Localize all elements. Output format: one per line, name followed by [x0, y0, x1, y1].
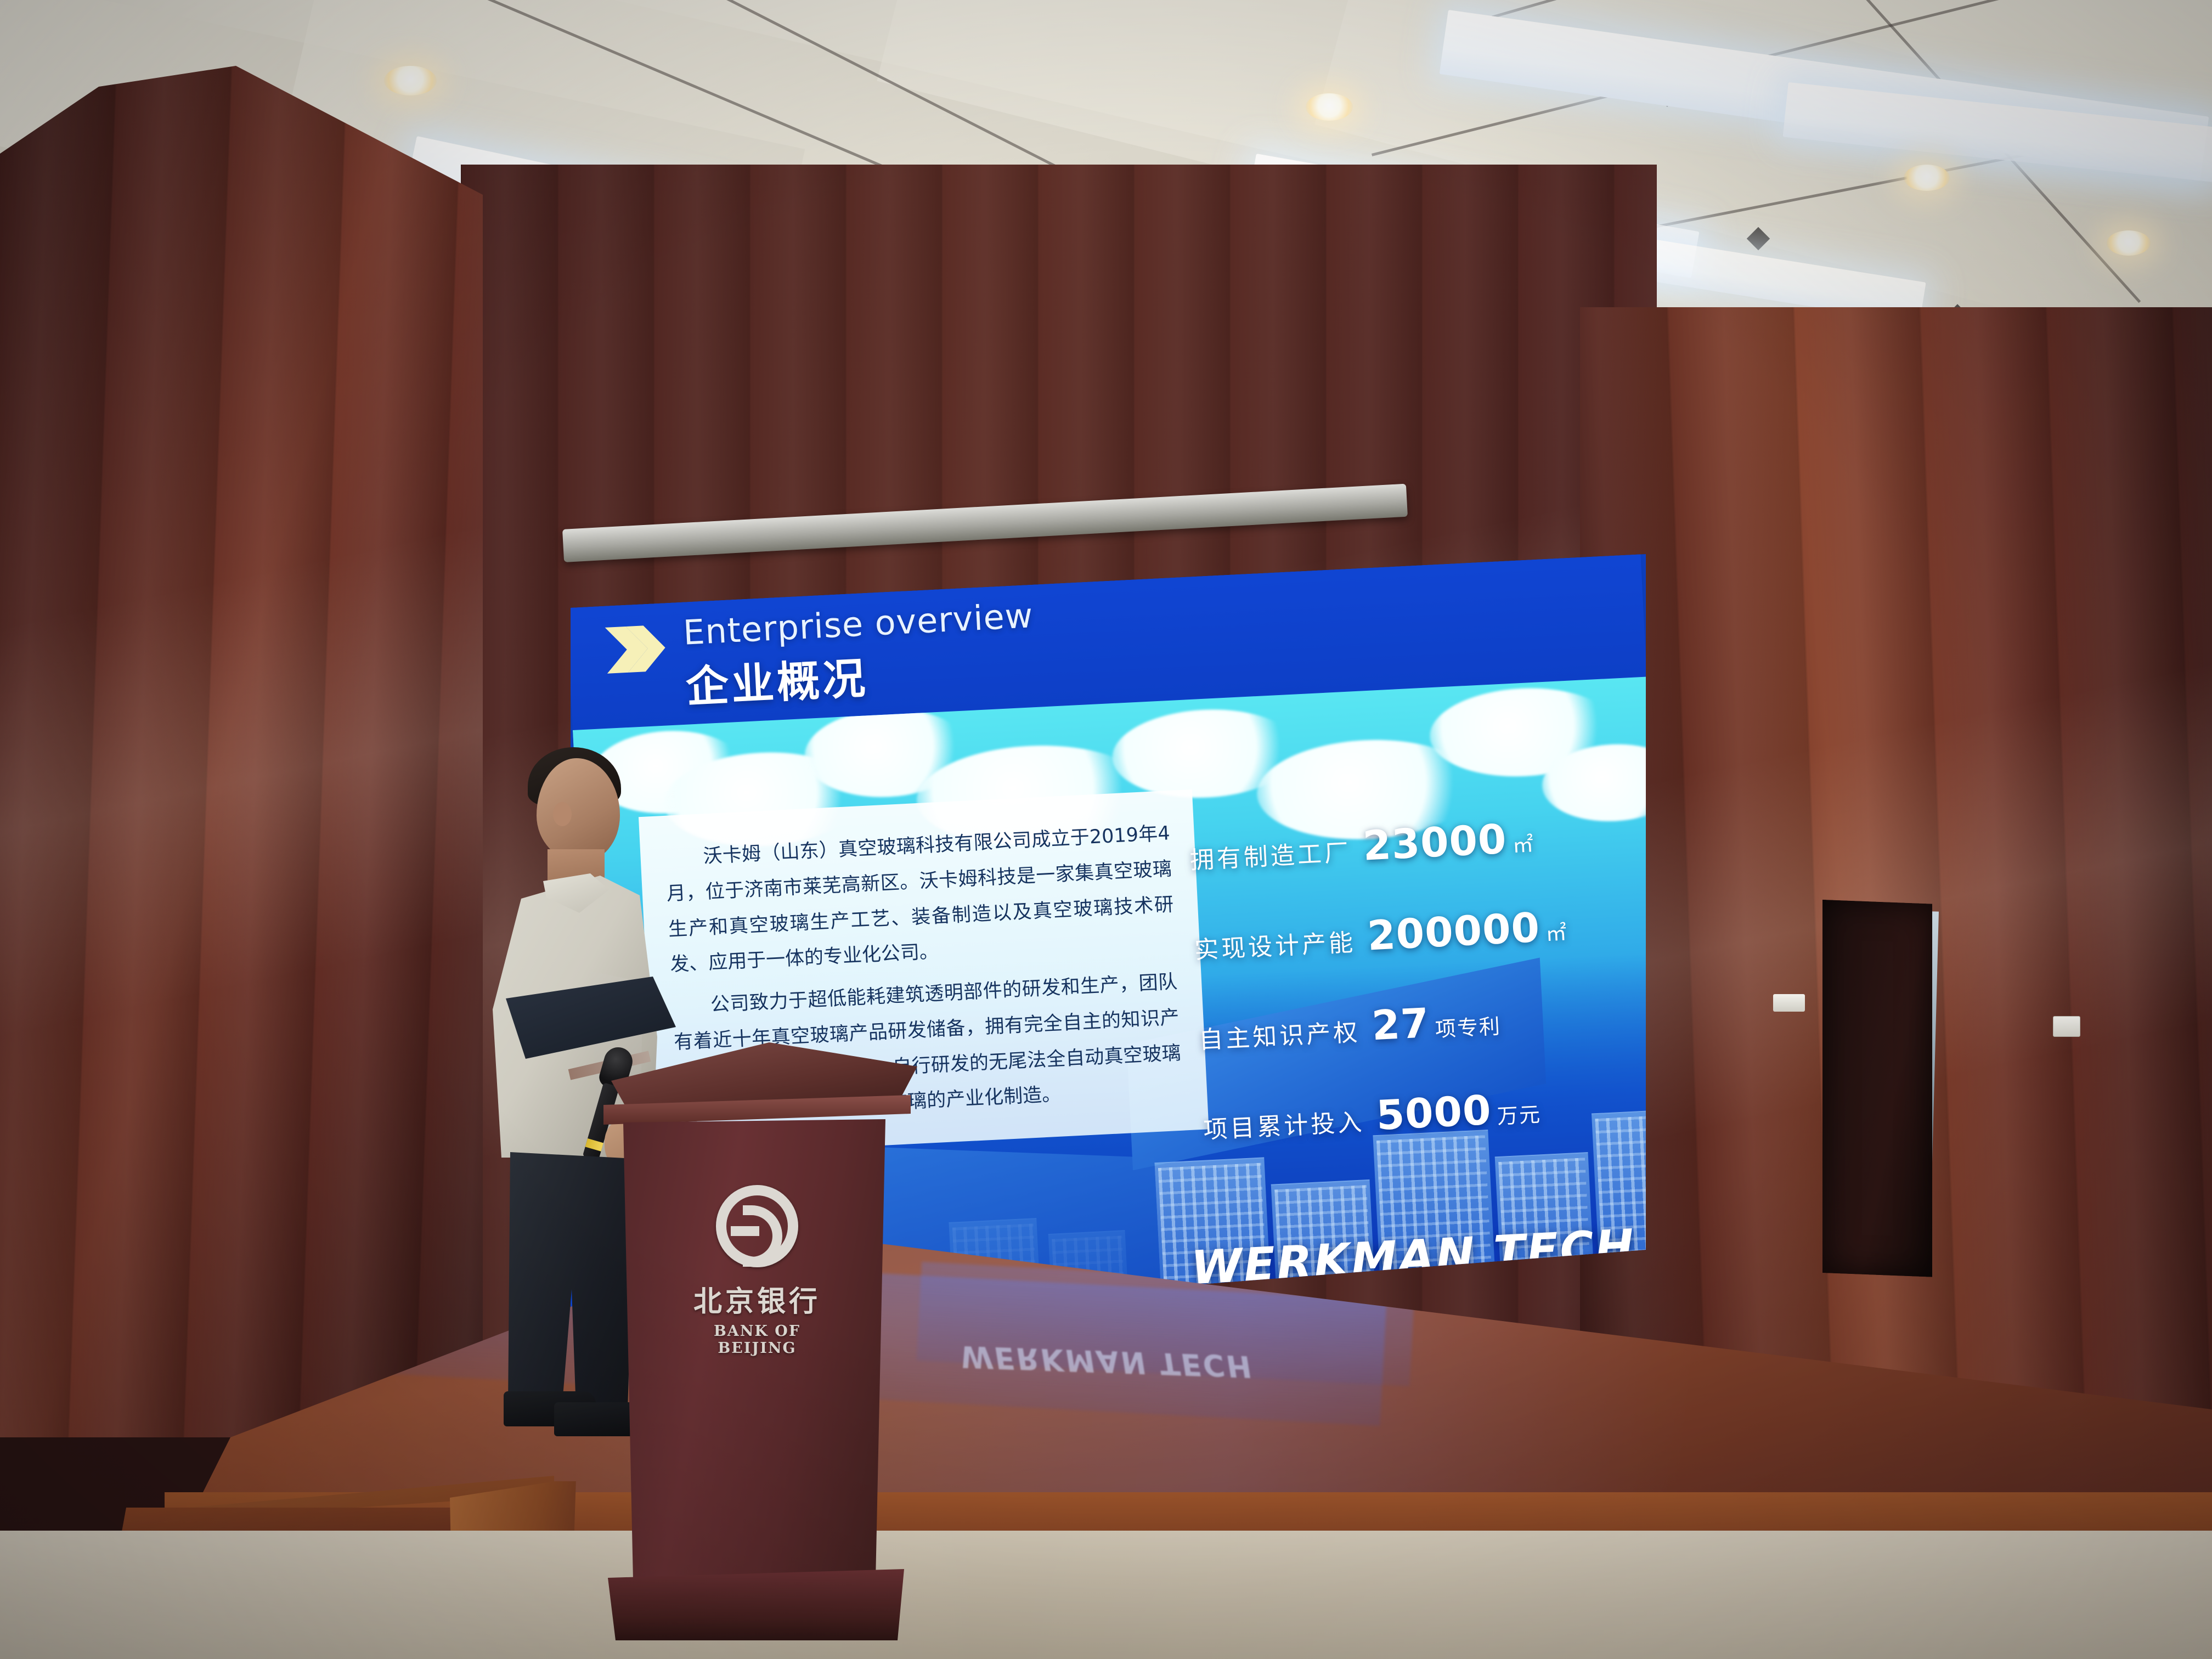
thermostat-panel[interactable]: [2053, 1016, 2080, 1037]
lectern: 北京银行 BANK OF BEIJING: [588, 1042, 917, 1657]
left-wood-wall: [0, 66, 483, 1437]
stat-value: 23000: [1362, 816, 1508, 870]
conference-hall-photo: Enterprise overview 企业概况: [0, 0, 2212, 1659]
stat-value: 5000: [1375, 1087, 1493, 1139]
recessed-downlight: [1904, 165, 1950, 191]
bank-logo-en: BANK OF BEIJING: [686, 1323, 828, 1357]
stat-label: 拥有制造工厂: [1189, 833, 1352, 876]
stat-unit: ㎡: [1511, 827, 1535, 859]
recessed-downlight: [2107, 230, 2151, 256]
stat-value: 27: [1370, 1000, 1430, 1049]
stat-row: 拥有制造工厂 23000 ㎡: [1188, 810, 1623, 878]
bank-of-beijing-logo: 北京银行 BANK OF BEIJING: [686, 1185, 828, 1361]
recessed-downlight: [1306, 93, 1353, 121]
presenter-ear: [553, 802, 572, 826]
slide-stats-list: 拥有制造工厂 23000 ㎡ 实现设计产能 200000 ㎡ 自主知识产权 27: [1188, 810, 1639, 1190]
stat-unit: 项专利: [1434, 1009, 1502, 1043]
right-wood-wall: [1580, 307, 2212, 1459]
bank-logo-cn: 北京银行: [686, 1278, 828, 1319]
double-chevron-right-icon: [603, 622, 667, 677]
stat-unit: ㎡: [1545, 916, 1568, 947]
stat-row: 自主知识产权 27 项专利: [1198, 990, 1633, 1058]
recessed-downlight: [384, 66, 437, 95]
slide-title-cn: 企业概况: [684, 644, 869, 714]
stat-label: 项目累计投入: [1203, 1102, 1365, 1145]
stat-row: 实现设计产能 200000 ㎡: [1193, 900, 1628, 968]
door-wall-sign: [1773, 994, 1805, 1012]
lectern-base: [608, 1569, 904, 1640]
stat-label: 实现设计产能: [1193, 923, 1356, 966]
bank-of-beijing-monogram-icon: [716, 1185, 798, 1267]
stat-unit: 万元: [1496, 1097, 1542, 1130]
stat-value: 200000: [1366, 904, 1541, 960]
hall-floor: [0, 1531, 2212, 1659]
stat-label: 自主知识产权: [1198, 1012, 1361, 1056]
stat-row: 项目累计投入 5000 万元: [1202, 1080, 1637, 1148]
open-door[interactable]: [1822, 900, 1932, 1277]
slide-paragraph-1: 沃卡姆（山东）真空玻璃科技有限公司成立于2019年4月，位于济南市莱芜高新区。沃…: [664, 816, 1176, 983]
